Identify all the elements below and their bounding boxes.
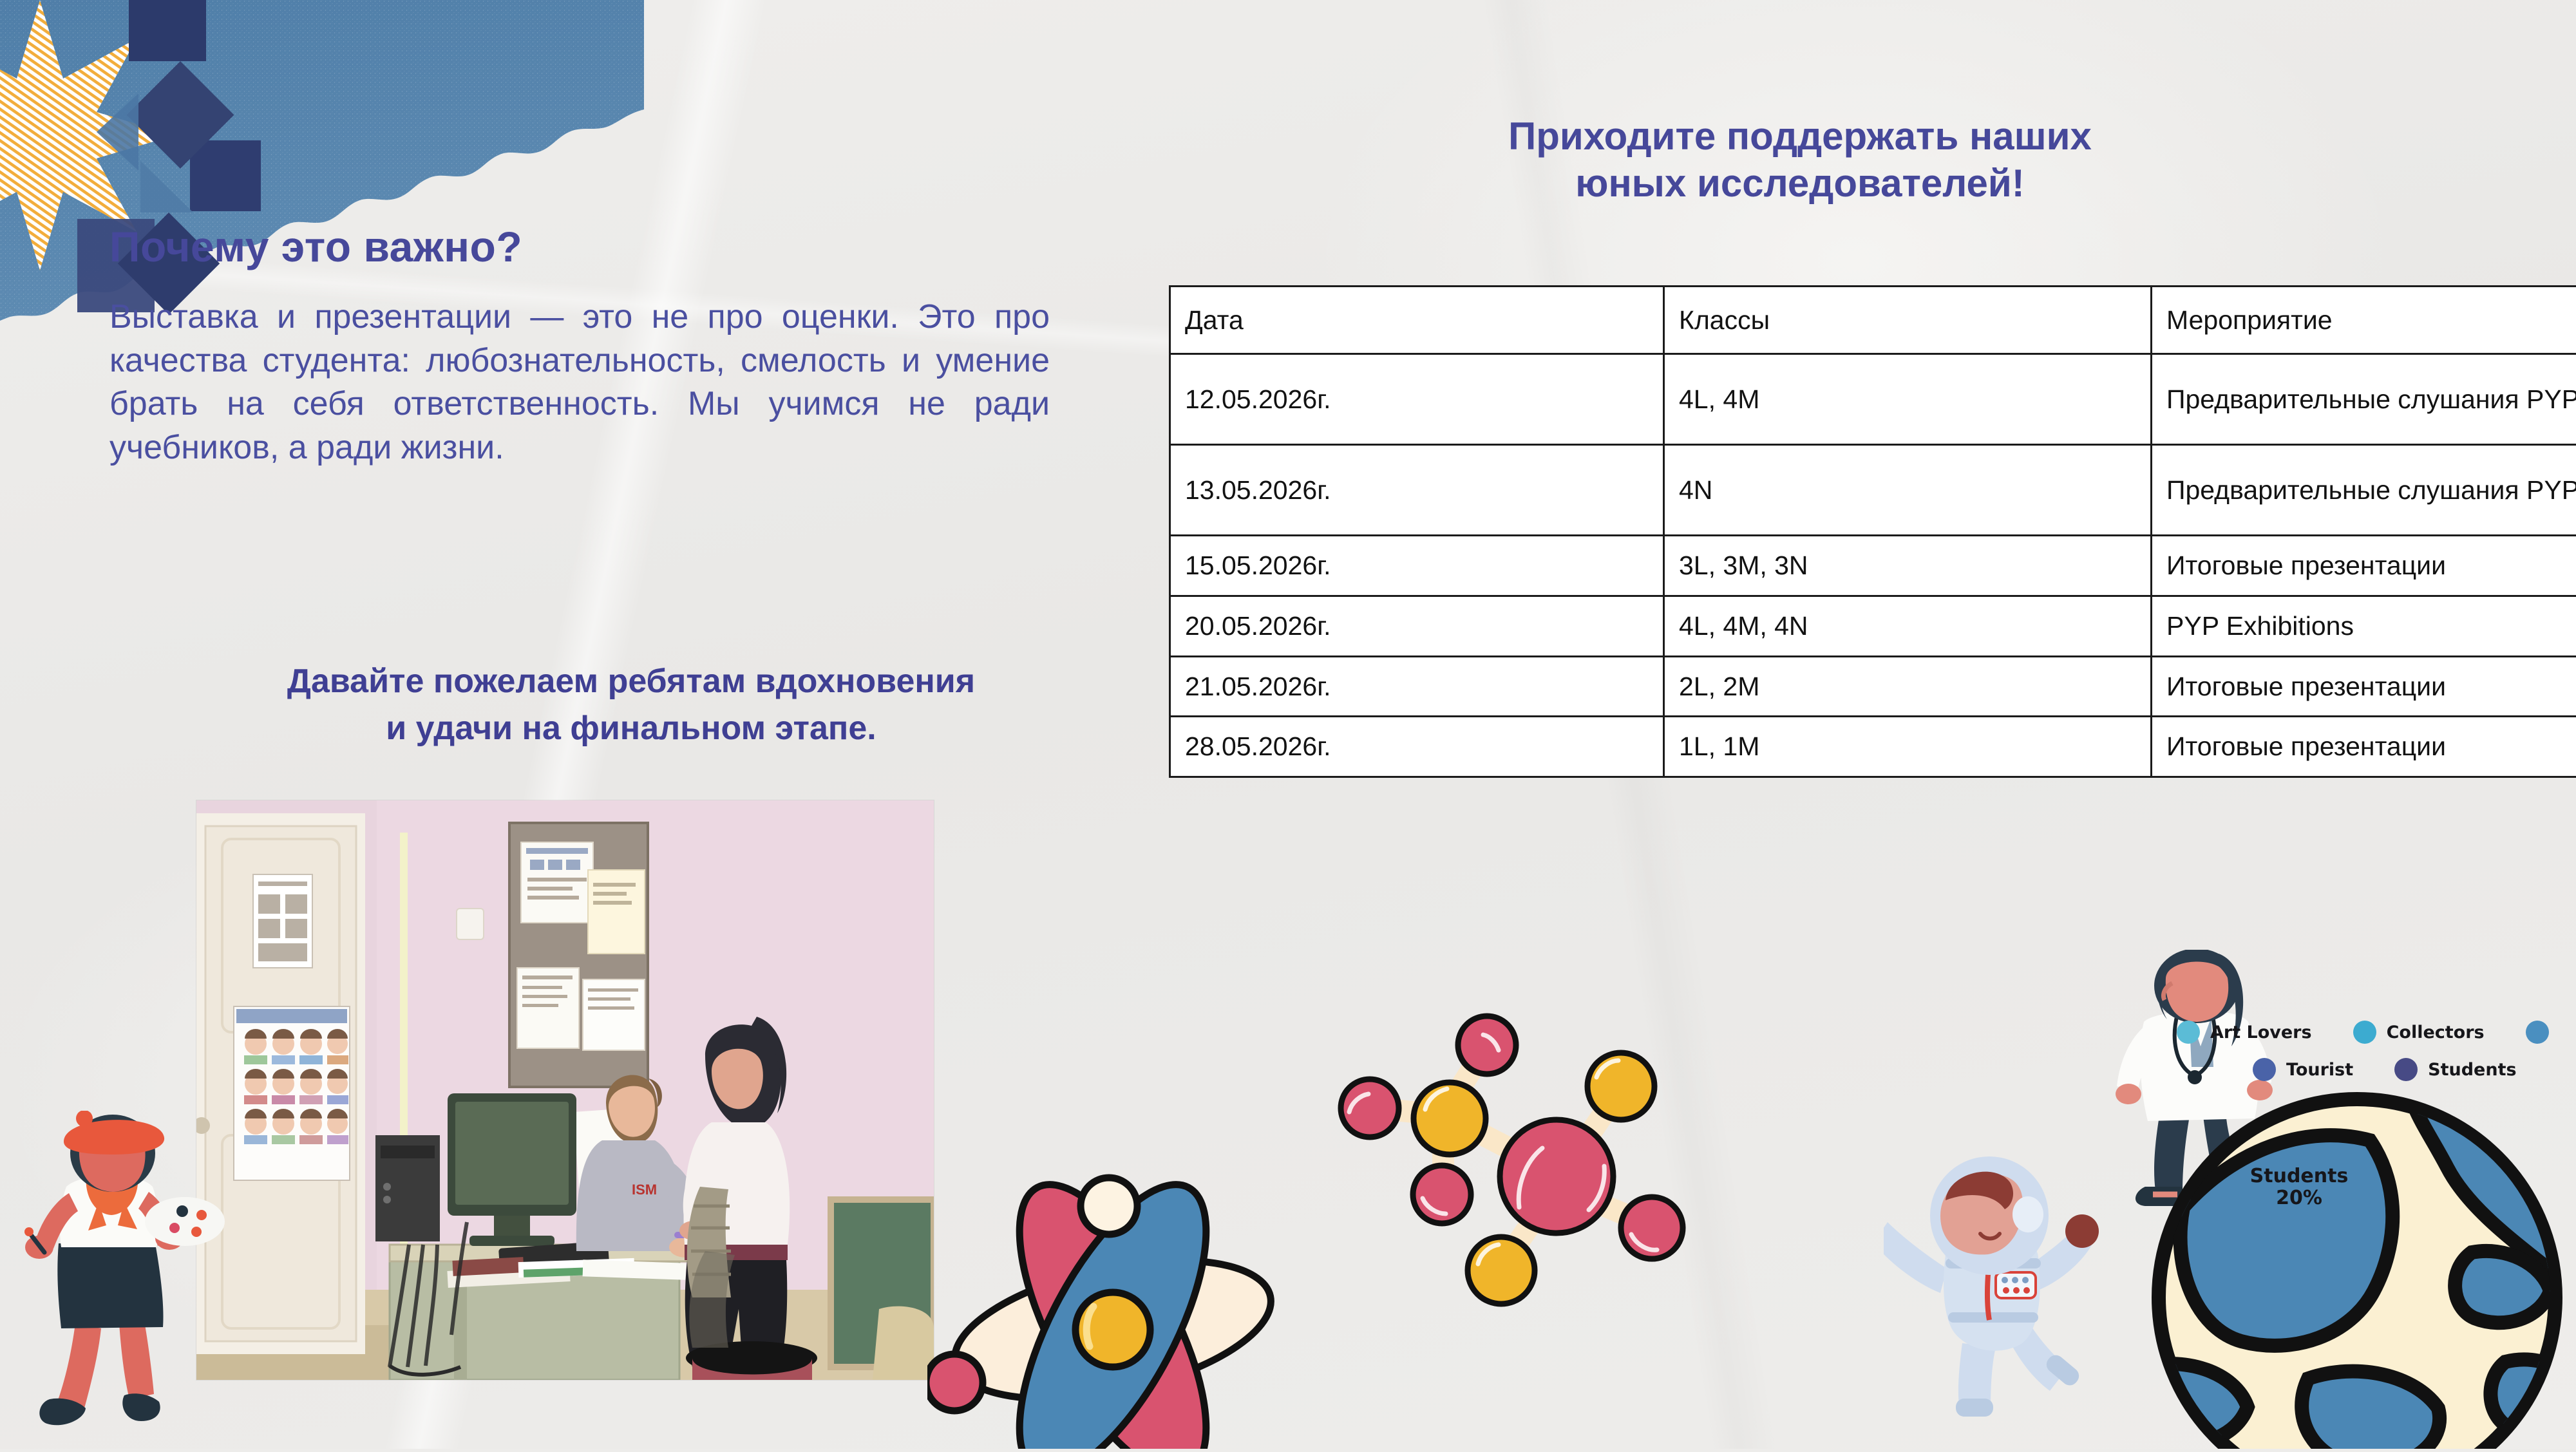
table-header-row: Дата Классы Мероприятие (1170, 287, 2576, 354)
table-row: 21.05.2026г. 2L, 2M Итоговые презентации (1170, 656, 2576, 717)
why-important-heading: Почему это важно? (109, 222, 1153, 271)
table-row: 12.05.2026г. 4L, 4M Предварительные слуш… (1170, 354, 2576, 445)
wish-line-1: Давайте пожелаем ребятам вдохновения (109, 660, 1153, 703)
cell-date: 15.05.2026г. (1170, 536, 1664, 596)
schedule-table: Дата Классы Мероприятие 12.05.2026г. 4L,… (1169, 285, 2576, 778)
legend-item-cutoff (2526, 1021, 2549, 1044)
legend-item-students: Students (2394, 1058, 2516, 1081)
cell-class: 1L, 1M (1664, 717, 2152, 777)
cell-event: Итоговые презентации (2152, 536, 2576, 596)
legend-label-art-lovers: Art Lovers (2210, 1023, 2312, 1042)
pie-chart-legend: Art Lovers Collectors Tourist Students (2177, 1021, 2576, 1095)
table-header-date: Дата (1170, 287, 1664, 354)
artist-girl-illustration (16, 1111, 229, 1449)
table-header-class: Классы (1664, 287, 2152, 354)
pie-callout-students: Students 20% (2225, 1165, 2373, 1209)
cell-date: 12.05.2026г. (1170, 354, 1664, 445)
support-heading-line-2: юных исследователей! (1153, 160, 2447, 207)
table-row: 20.05.2026г. 4L, 4M, 4N PYP Exhibitions (1170, 596, 2576, 656)
molecule-illustration (1323, 1001, 1710, 1426)
cell-class: 4L, 4M (1664, 354, 2152, 445)
pie-callout-value: 20% (2225, 1187, 2373, 1209)
legend-item-tourist: Tourist (2253, 1058, 2353, 1081)
legend-row-1: Art Lovers Collectors (2177, 1021, 2576, 1044)
legend-label-students: Students (2428, 1060, 2516, 1080)
cell-class: 4L, 4M, 4N (1664, 596, 2152, 656)
globe-illustration (2145, 1085, 2576, 1449)
astronaut-illustration (1884, 1146, 2141, 1417)
left-content-column: Почему это важно? Выставка и презентации… (109, 222, 1153, 469)
wish-line-2: и удачи на финальном этапе. (109, 707, 1153, 750)
cell-date: 20.05.2026г. (1170, 596, 1664, 656)
why-important-body-text: Выставка и презентации — это не про оцен… (109, 296, 1050, 469)
legend-dot-cutoff (2526, 1021, 2549, 1044)
cell-class: 3L, 3M, 3N (1664, 536, 2152, 596)
legend-dot-art-lovers (2177, 1021, 2200, 1044)
cell-event: PYP Exhibitions (2152, 596, 2576, 656)
cell-event: Итоговые презентации (2152, 656, 2576, 717)
atom-illustration (927, 1136, 1314, 1449)
support-heading: Приходите поддержать наших юных исследов… (1153, 113, 2447, 207)
cell-class: 2L, 2M (1664, 656, 2152, 717)
cell-date: 13.05.2026г. (1170, 445, 1664, 536)
cell-date: 28.05.2026г. (1170, 717, 1664, 777)
classroom-photo: ISM (196, 800, 934, 1380)
wish-block: Давайте пожелаем ребятам вдохновения и у… (109, 660, 1153, 750)
legend-item-collectors: Collectors (2353, 1021, 2485, 1044)
cell-class: 4N (1664, 445, 2152, 536)
svg-text:ISM: ISM (632, 1182, 657, 1198)
legend-dot-tourist (2253, 1058, 2276, 1081)
pie-callout-label: Students (2225, 1165, 2373, 1187)
legend-dot-students (2394, 1058, 2418, 1081)
support-heading-line-1: Приходите поддержать наших (1153, 113, 2447, 160)
legend-label-collectors: Collectors (2387, 1023, 2485, 1042)
cell-event: Предварительные слушания PYP (2152, 445, 2576, 536)
legend-label-tourist: Tourist (2286, 1060, 2353, 1080)
table-row: 13.05.2026г. 4N Предварительные слушания… (1170, 445, 2576, 536)
table-row: 15.05.2026г. 3L, 3M, 3N Итоговые презент… (1170, 536, 2576, 596)
cell-date: 21.05.2026г. (1170, 656, 1664, 717)
legend-item-art-lovers: Art Lovers (2177, 1021, 2312, 1044)
table-header-event: Мероприятие (2152, 287, 2576, 354)
legend-dot-collectors (2353, 1021, 2376, 1044)
cell-event: Предварительные слушания PYP (2152, 354, 2576, 445)
legend-row-2: Tourist Students (2177, 1058, 2576, 1081)
cell-event: Итоговые презентации (2152, 717, 2576, 777)
table-row: 28.05.2026г. 1L, 1M Итоговые презентации (1170, 717, 2576, 777)
